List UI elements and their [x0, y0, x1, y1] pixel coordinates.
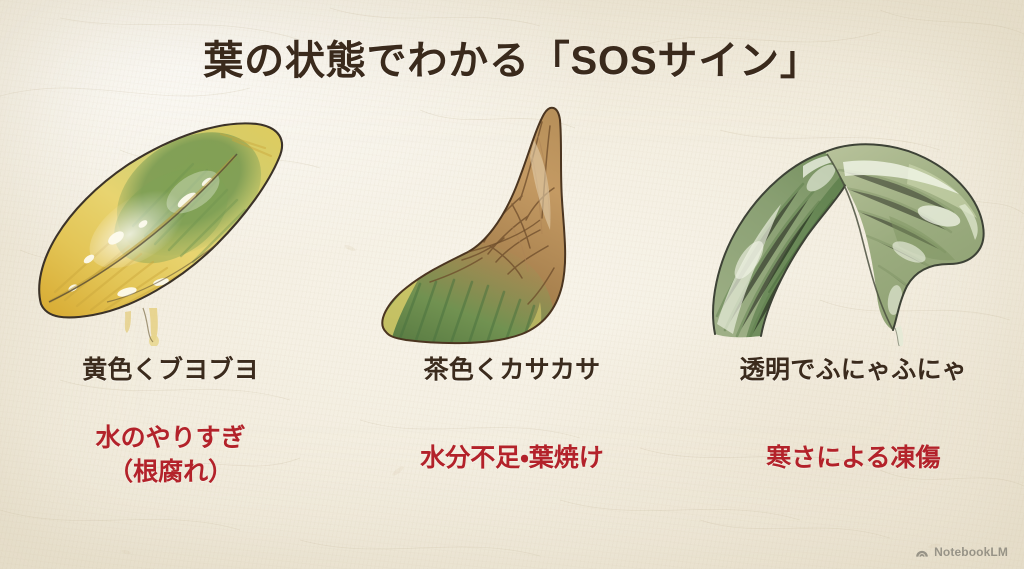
sos-column-underwatering: 茶色くカサカサ 水分不足・葉焼け [341, 96, 682, 536]
watermark-label: NotebookLM [934, 545, 1008, 559]
slide-canvas: 葉の状態でわかる「SOSサイン」 [0, 0, 1024, 569]
leaf-caption: 茶色くカサカサ [424, 350, 601, 386]
leaf-caption: 黄色くブヨブヨ [82, 350, 259, 386]
sos-column-overwatering: 黄色くブヨブヨ 水のやりすぎ （根腐れ） [0, 96, 341, 536]
brown-crispy-leaf-illustration [362, 96, 662, 346]
diagnosis-label: 水のやりすぎ （根腐れ） [96, 422, 246, 489]
diagnosis-label: 寒さによる凍傷 [766, 442, 940, 476]
drooping-translucent-leaf-illustration [703, 96, 1003, 346]
diagnosis-label: 水分不足・葉焼け [420, 442, 604, 476]
leaf-caption: 透明でふにゃふにゃ [740, 350, 967, 386]
sos-sign-columns: 黄色くブヨブヨ 水のやりすぎ （根腐れ） [0, 96, 1024, 536]
notebooklm-spiral-icon [915, 545, 929, 559]
notebooklm-watermark: NotebookLM [915, 545, 1008, 559]
sos-column-cold-damage: 透明でふにゃふにゃ 寒さによる凍傷 [683, 96, 1024, 536]
yellow-mushy-leaf-illustration [21, 96, 321, 346]
page-title: 葉の状態でわかる「SOSサイン」 [0, 28, 1024, 86]
